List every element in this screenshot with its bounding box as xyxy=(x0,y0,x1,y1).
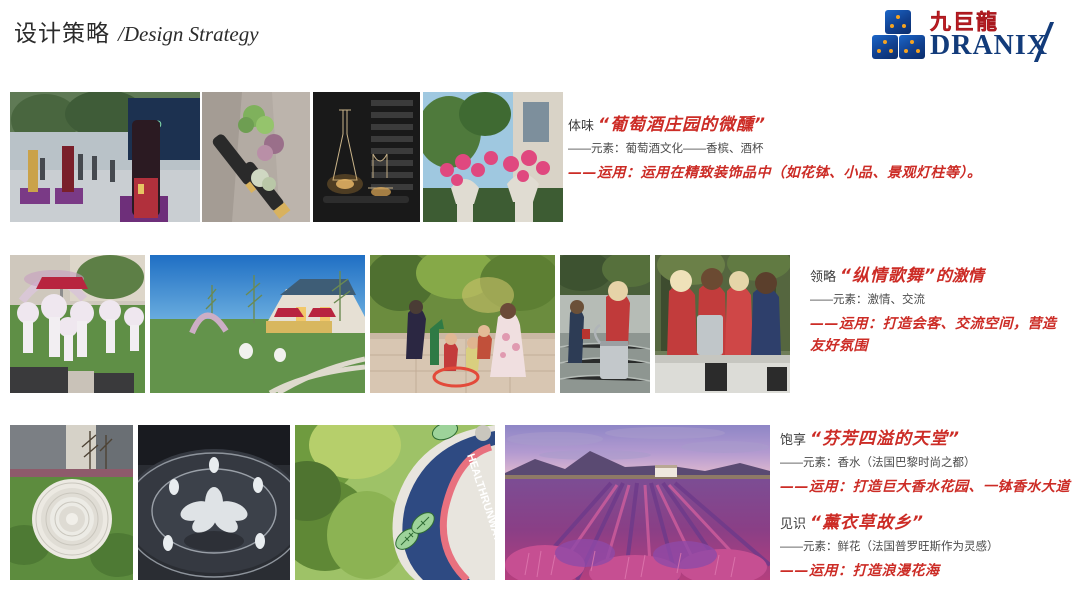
photo-bottle-succulent-planter xyxy=(202,92,310,222)
die-top-icon xyxy=(885,10,911,34)
photo-lavender-field xyxy=(505,425,770,580)
dance-head-highlight: “纵情歌舞” xyxy=(840,266,936,286)
photo-white-floral-garden-party xyxy=(10,255,145,393)
perfume-head-highlight: “芬芳四溢的天堂” xyxy=(810,429,960,449)
dice-blocks-icon xyxy=(872,10,926,58)
photo-wine-bottle-street: BRO xyxy=(10,92,200,222)
text-block-dance: 领略“纵情歌舞”的激情 ——元素：激情、交流 ——运用：打造会客、交流空间，营造… xyxy=(810,265,1057,356)
photo-silver-lotus-water-feature xyxy=(138,425,290,580)
text-block-lavender: 见识“薰衣草故乡” ——元素：鲜花（法国普罗旺斯作为灵感） ——运用：打造浪漫花… xyxy=(780,512,999,581)
page-title-cn: 设计策略 xyxy=(14,21,110,47)
photo-white-rose-sculpture xyxy=(10,425,133,580)
photo-health-runway-path: HEALTHRUNWAY xyxy=(295,425,495,580)
dance-use-line-2: 友好氛围 xyxy=(810,337,1057,356)
company-logo: 九巨龍 DRANIX xyxy=(872,6,1072,66)
dance-headline: 领略“纵情歌舞”的激情 xyxy=(810,265,1057,288)
photo-glass-decanter-lamp xyxy=(313,92,420,222)
dance-element-line: ——元素：激情、交流 xyxy=(810,293,1057,309)
text-block-perfume: 饱享“芬芳四溢的天堂” ——元素：香水（法国巴黎时尚之都） ——运用：打造巨大香… xyxy=(780,428,1070,497)
lavender-element-line: ——元素：鲜花（法国普罗旺斯作为灵感） xyxy=(780,540,999,556)
dance-use-line: ——运用：打造会客、交流空间，营造 xyxy=(810,315,1057,334)
dance-head-tail: 的激情 xyxy=(936,268,984,285)
lavender-head-prefix: 见识 xyxy=(780,516,806,531)
wine-use-line: ——运用：运用在精致装饰品中（如花钵、小品、景观灯柱等）。 xyxy=(568,164,982,183)
page-title: 设计策略/Design Strategy xyxy=(14,14,259,48)
text-block-wine: 体味“葡萄酒庄园的微醺” ——元素：葡萄酒文化——香槟、酒杯 ——运用：运用在精… xyxy=(568,114,982,183)
dance-head-prefix: 领略 xyxy=(810,269,836,284)
wine-element-line: ——元素：葡萄酒文化——香槟、酒杯 xyxy=(568,142,982,158)
wine-head-prefix: 体味 xyxy=(568,118,594,133)
perfume-element-line: ——元素：香水（法国巴黎时尚之都） xyxy=(780,456,1070,472)
wine-headline: 体味“葡萄酒庄园的微醺” xyxy=(568,114,982,137)
slide-root: 设计策略/Design Strategy 九巨龍 DRANIX xyxy=(0,0,1080,609)
photo-villa-lawn-dusk xyxy=(150,255,365,393)
perfume-head-prefix: 饱享 xyxy=(780,432,806,447)
wine-head-highlight: “葡萄酒庄园的微醺” xyxy=(598,115,766,135)
photo-children-water-play xyxy=(370,255,555,393)
lavender-head-highlight: “薰衣草故乡” xyxy=(810,513,924,533)
perfume-headline: 饱享“芬芳四溢的天堂” xyxy=(780,428,1070,451)
die-bottom-right-icon xyxy=(899,35,925,59)
photo-flower-urn-planter xyxy=(423,92,563,222)
photo-girls-water-fountain xyxy=(655,255,790,393)
perfume-use-line: ——运用：打造巨大香水花园、一钵香水大道 xyxy=(780,478,1070,497)
photo-kids-water-bucket xyxy=(560,255,650,393)
lavender-use-line: ——运用：打造浪漫花海 xyxy=(780,562,999,581)
lavender-headline: 见识“薰衣草故乡” xyxy=(780,512,999,535)
die-bottom-left-icon xyxy=(872,35,898,59)
logo-name-en: DRANIX xyxy=(930,30,1048,62)
page-title-en: /Design Strategy xyxy=(118,22,259,46)
